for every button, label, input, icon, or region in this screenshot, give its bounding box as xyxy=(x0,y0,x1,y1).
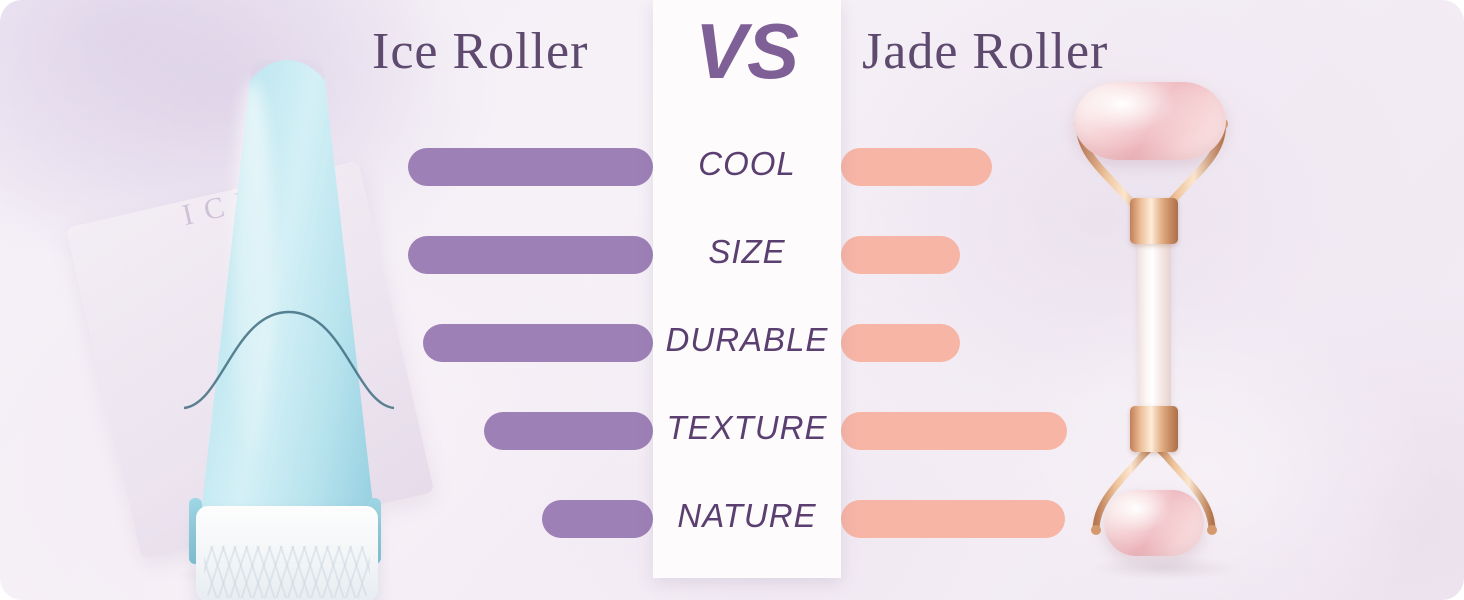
bar-ice-roller-nature xyxy=(542,500,653,538)
bar-ice-roller-size xyxy=(408,236,653,274)
ice-roller-head-texture xyxy=(204,546,370,598)
attribute-label-durable: DURABLE xyxy=(653,321,841,359)
bar-ice-roller-durable xyxy=(423,324,653,362)
jade-roller-stone-large xyxy=(1074,82,1226,160)
bar-jade-roller-size xyxy=(841,236,960,274)
comparison-banner: ICE xyxy=(0,0,1464,600)
ice-roller-image: ICE xyxy=(160,40,410,600)
attribute-label-cool: COOL xyxy=(653,145,841,183)
bar-jade-roller-cool xyxy=(841,148,992,186)
vs-panel: VS COOLSIZEDURABLETEXTURENATURE xyxy=(653,0,841,578)
bar-jade-roller-durable xyxy=(841,324,960,362)
attribute-label-size: SIZE xyxy=(653,233,841,271)
jade-roller-handle xyxy=(1138,241,1171,409)
right-product-title: Jade Roller xyxy=(862,22,1108,81)
jade-roller-stone-small xyxy=(1104,490,1204,556)
bar-ice-roller-cool xyxy=(408,148,653,186)
vs-label: VS xyxy=(653,12,841,90)
bar-jade-roller-texture xyxy=(841,412,1067,450)
attribute-label-texture: TEXTURE xyxy=(653,409,841,447)
jade-roller-ferrule-bottom xyxy=(1130,406,1178,452)
jade-roller-image xyxy=(1046,78,1316,588)
jade-roller-ferrule-top xyxy=(1130,198,1178,244)
bar-jade-roller-nature xyxy=(841,500,1065,538)
attribute-label-nature: NATURE xyxy=(653,497,841,535)
ice-roller-curve xyxy=(182,290,397,420)
bar-ice-roller-texture xyxy=(484,412,653,450)
